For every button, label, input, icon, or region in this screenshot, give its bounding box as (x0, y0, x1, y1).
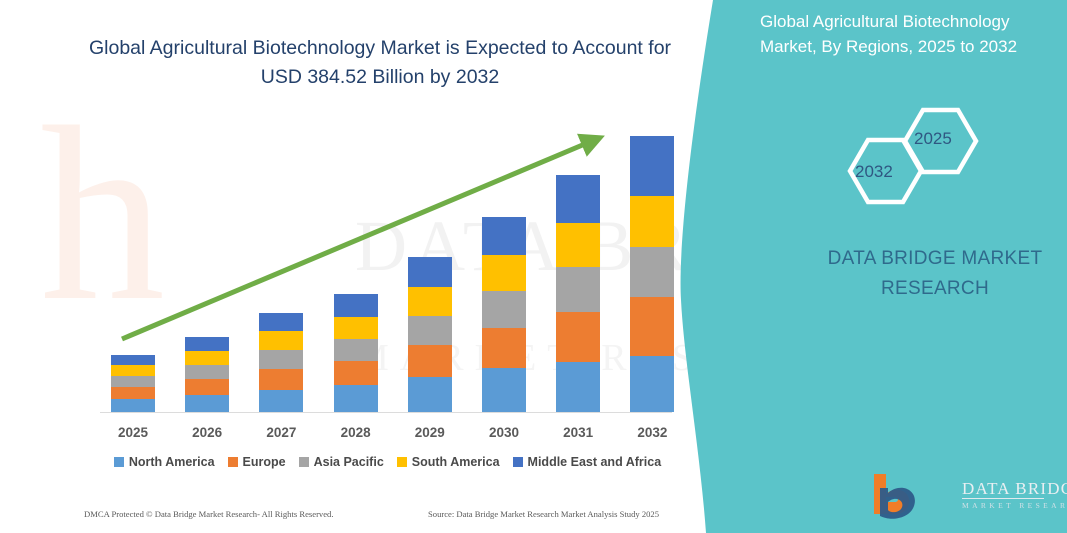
bar-2028[interactable] (334, 294, 378, 412)
bar-segment-2029-north-america (408, 377, 452, 412)
legend-swatch-icon (513, 457, 523, 467)
hexagon-pair (820, 100, 1040, 220)
bar-segment-2030-south-america (482, 255, 526, 291)
bar-segment-2029-middle-east-and-africa (408, 257, 452, 287)
bar-segment-2028-asia-pacific (334, 339, 378, 361)
logo-text-main: DATA BRIDGE (962, 479, 1067, 499)
bar-segment-2032-europe (630, 297, 674, 356)
logo-text-sub: MARKET RESEARCH (962, 501, 1067, 510)
legend-item-asia-pacific[interactable]: Asia Pacific (299, 455, 384, 469)
logo-divider (962, 498, 1044, 499)
bar-segment-2025-europe (111, 387, 155, 399)
bar-chart: 20252026202720282029203020312032 (0, 0, 700, 533)
legend-item-europe[interactable]: Europe (228, 455, 286, 469)
bar-segment-2032-south-america (630, 196, 674, 247)
bar-segment-2029-asia-pacific (408, 316, 452, 345)
panel-brand-text: DATA BRIDGE MARKET RESEARCH (790, 244, 1067, 304)
bar-segment-2031-north-america (556, 362, 600, 412)
bar-segment-2025-middle-east-and-africa (111, 355, 155, 365)
bar-segment-2030-middle-east-and-africa (482, 217, 526, 255)
bar-2031[interactable] (556, 175, 600, 412)
bar-segment-2030-europe (482, 328, 526, 368)
bar-2026[interactable] (185, 337, 229, 412)
bar-segment-2030-asia-pacific (482, 291, 526, 328)
legend-item-north-america[interactable]: North America (114, 455, 215, 469)
x-axis-label-2028: 2028 (319, 425, 393, 440)
bar-segment-2029-europe (408, 345, 452, 377)
bar-segment-2031-europe (556, 312, 600, 362)
bar-segment-2025-asia-pacific (111, 376, 155, 387)
bar-segment-2031-asia-pacific (556, 267, 600, 312)
bar-segment-2026-europe (185, 379, 229, 395)
x-axis-label-2025: 2025 (96, 425, 170, 440)
legend-item-middle-east-and-africa[interactable]: Middle East and Africa (513, 455, 662, 469)
legend-swatch-icon (228, 457, 238, 467)
bar-2027[interactable] (259, 313, 303, 412)
bar-segment-2030-north-america (482, 368, 526, 412)
bar-segment-2031-middle-east-and-africa (556, 175, 600, 223)
legend-item-south-america[interactable]: South America (397, 455, 500, 469)
bar-segment-2027-middle-east-and-africa (259, 313, 303, 331)
bar-segment-2027-europe (259, 369, 303, 390)
legend-label: Middle East and Africa (528, 455, 662, 469)
x-axis-label-2027: 2027 (244, 425, 318, 440)
bar-segment-2026-middle-east-and-africa (185, 337, 229, 351)
legend-swatch-icon (397, 457, 407, 467)
x-axis-label-2032: 2032 (615, 425, 689, 440)
bar-segment-2025-north-america (111, 399, 155, 412)
bar-segment-2032-asia-pacific (630, 247, 674, 297)
infographic-canvas: h DATA BRIDGE MARKET RESEARCH Global Agr… (0, 0, 1067, 533)
bar-segment-2029-south-america (408, 287, 452, 316)
bar-segment-2026-asia-pacific (185, 365, 229, 379)
bar-segment-2027-north-america (259, 390, 303, 412)
bar-segment-2028-europe (334, 361, 378, 385)
x-axis-label-2029: 2029 (393, 425, 467, 440)
bar-segment-2027-south-america (259, 331, 303, 350)
hexagon-2025-label: 2025 (914, 129, 952, 149)
bar-segment-2032-middle-east-and-africa (630, 136, 674, 196)
bar-2029[interactable] (408, 257, 452, 412)
bar-segment-2026-north-america (185, 395, 229, 412)
legend-swatch-icon (299, 457, 309, 467)
legend-label: Asia Pacific (314, 455, 384, 469)
bar-2032[interactable] (630, 136, 674, 412)
legend-label: Europe (243, 455, 286, 469)
footer-source: Source: Data Bridge Market Research Mark… (428, 509, 659, 519)
bar-segment-2026-south-america (185, 351, 229, 365)
panel-title: Global Agricultural Biotechnology Market… (760, 9, 1050, 59)
x-axis-line (100, 412, 672, 413)
hexagon-2032-label: 2032 (855, 162, 893, 182)
chart-legend: North AmericaEuropeAsia PacificSouth Ame… (100, 455, 675, 469)
legend-swatch-icon (114, 457, 124, 467)
footer-copyright: DMCA Protected © Data Bridge Market Rese… (84, 509, 334, 519)
bar-2030[interactable] (482, 217, 526, 412)
bar-segment-2028-south-america (334, 317, 378, 339)
bar-segment-2031-south-america (556, 223, 600, 267)
legend-label: South America (412, 455, 500, 469)
bar-2025[interactable] (111, 355, 155, 412)
bar-segment-2025-south-america (111, 365, 155, 376)
x-axis-label-2030: 2030 (467, 425, 541, 440)
x-axis-label-2026: 2026 (170, 425, 244, 440)
legend-label: North America (129, 455, 215, 469)
bar-segment-2027-asia-pacific (259, 350, 303, 369)
bar-segment-2028-north-america (334, 385, 378, 412)
x-axis-label-2031: 2031 (541, 425, 615, 440)
bar-segment-2028-middle-east-and-africa (334, 294, 378, 317)
bar-segment-2032-north-america (630, 356, 674, 412)
